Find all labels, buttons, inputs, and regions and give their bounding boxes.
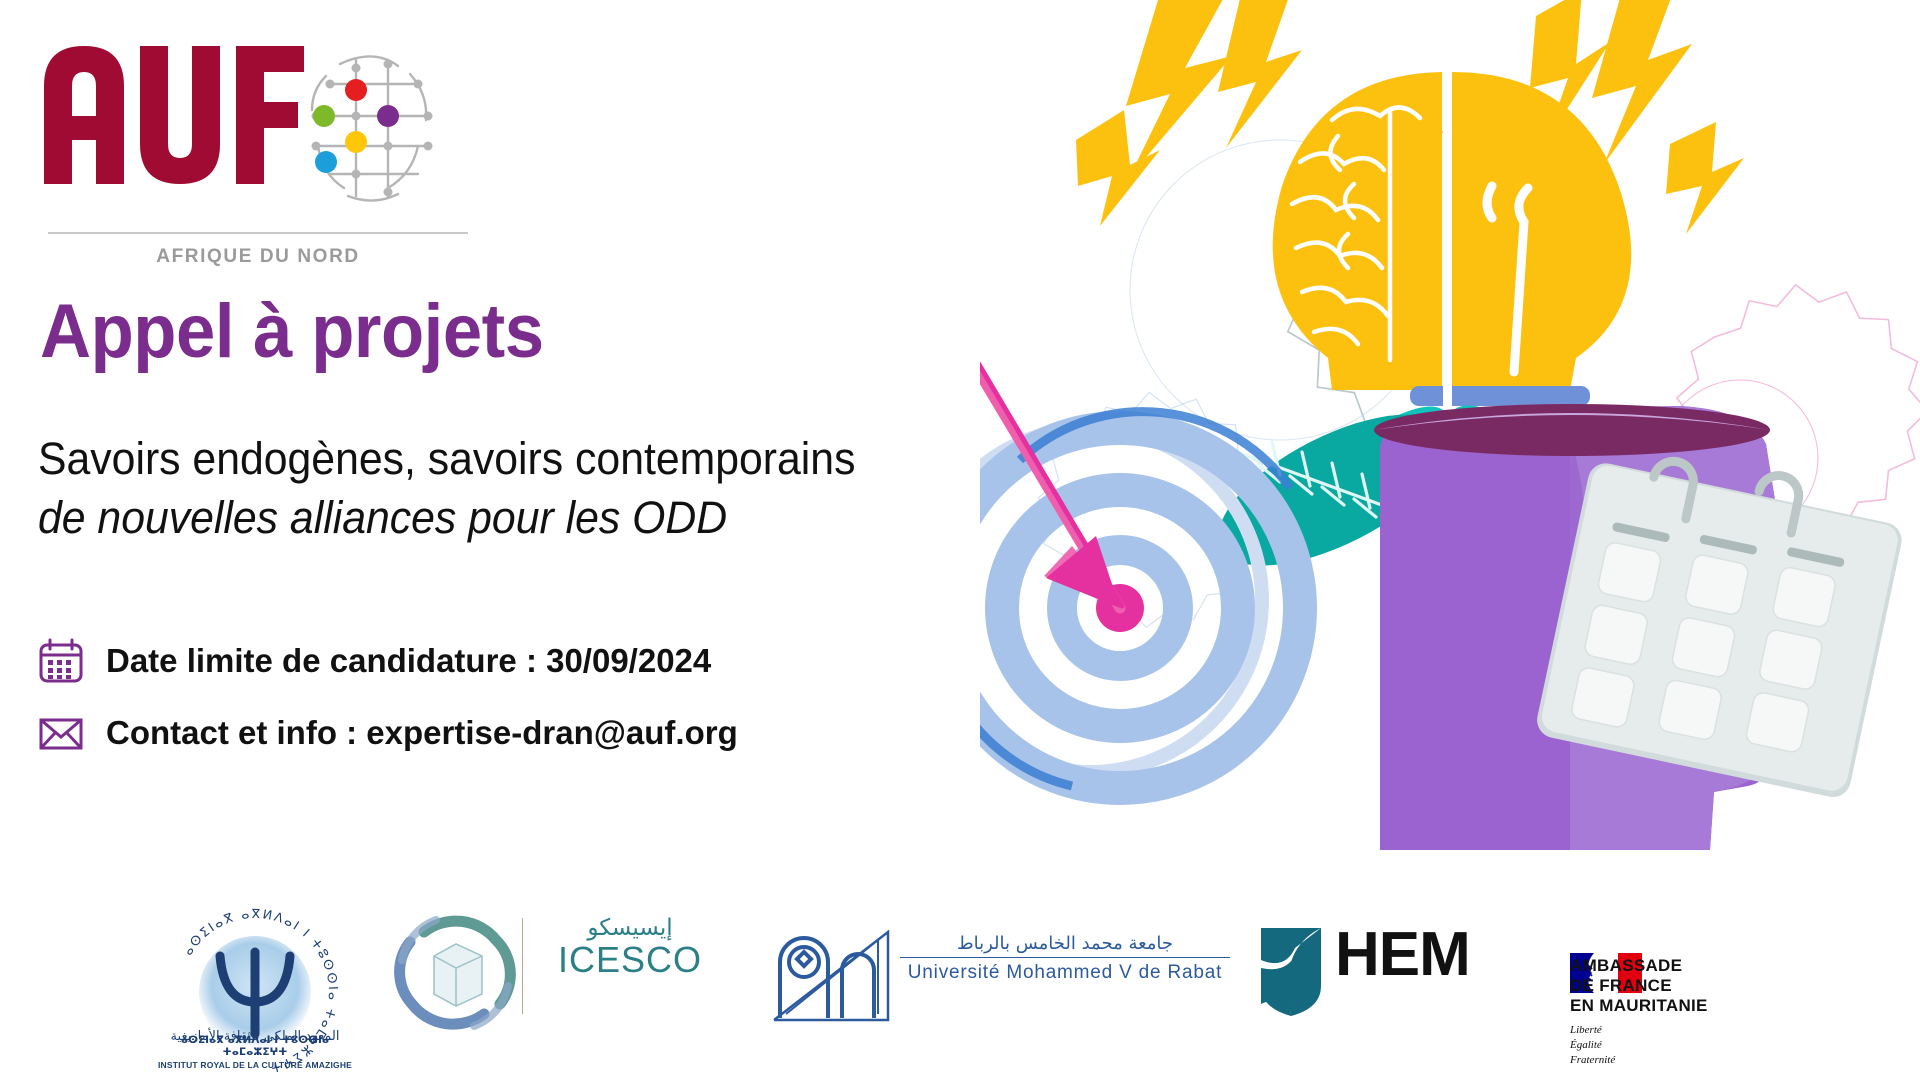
ambassade-line-2: DE FRANCE (1570, 976, 1820, 996)
auf-network-icon (312, 56, 433, 200)
partner-logo-ambassade-de-france: AMBASSADE DE FRANCE EN MAURITANIE Libert… (1570, 904, 1820, 1044)
calendar-icon (38, 638, 84, 684)
subtitle-line-1: Savoirs endogènes, savoirs contemporains (38, 430, 855, 489)
contact-row: Contact et info : expertise-dran@auf.org (38, 710, 738, 756)
auf-divider (48, 232, 468, 234)
node-blue (315, 151, 337, 173)
hem-shield-icon (1261, 928, 1321, 1016)
umv-name-french: Université Mohammed V de Rabat (900, 962, 1230, 984)
deadline-text: Date limite de candidature : 30/09/2024 (106, 642, 711, 680)
contact-text: Contact et info : expertise-dran@auf.org (106, 714, 738, 752)
auf-wordmark (44, 46, 304, 184)
ambassade-line-1: AMBASSADE (1570, 956, 1820, 976)
page-subtitle: Savoirs endogènes, savoirs contemporains… (38, 430, 855, 547)
partner-logo-icesco: إيسيسكو ICESCO (390, 912, 720, 1032)
icesco-divider (522, 918, 523, 1014)
auf-region-label: AFRIQUE DU NORD (48, 246, 468, 268)
partner-logo-hem: HEM (1255, 920, 1545, 1020)
ambassade-line-3: EN MAURITANIE (1570, 996, 1820, 1016)
info-block: Date limite de candidature : 30/09/2024 … (38, 638, 738, 782)
lightbulb-brain (1273, 72, 1631, 394)
node-red (345, 79, 367, 101)
icesco-name-arabic: إيسيسكو (540, 916, 720, 941)
ircam-name-french: INSTITUT ROYAL DE LA CULTURE AMAZIGHE (150, 1060, 360, 1070)
auf-logo (40, 24, 460, 234)
partner-logos: ⴰⵙⵉⵏⴰⴳ ⴰⴳⵍⴷⴰⵏ ⵏ ⵜⵓⵙⵙⵏⴰ ⵜⴰⵎⴰⵣⵉⵖⵜ المعهد ا… (0, 872, 1920, 1080)
node-green (313, 105, 335, 127)
motto-egalite: Égalité (1570, 1038, 1820, 1053)
partner-logo-universite-mohammed-v: جامعة محمد الخامس بالرباط Université Moh… (770, 918, 1230, 1028)
ircam-name-tifinagh: ⴰⵙⵉⵏⴰⴳ ⴰⴳⵍⴷⴰⵏ ⵏ ⵜⵓⵙⵙⵏⴰ ⵜⴰⵎⴰⵣⵉⵖⵜ (150, 1034, 360, 1058)
poster-canvas: AFRIQUE DU NORD Appel à projets Savoirs … (0, 0, 1920, 1080)
umv-text: جامعة محمد الخامس بالرباط Université Moh… (900, 932, 1230, 984)
ambassade-text: AMBASSADE DE FRANCE EN MAURITANIE Libert… (1570, 956, 1820, 1068)
motto-liberte: Liberté (1570, 1023, 1820, 1038)
deadline-row: Date limite de candidature : 30/09/2024 (38, 638, 738, 684)
wall-calendar (1534, 437, 1910, 801)
motto-fraternite: Fraternité (1570, 1053, 1820, 1068)
subtitle-line-2: de nouvelles alliances pour les ODD (38, 489, 855, 548)
node-purple (377, 105, 399, 127)
umv-name-arabic: جامعة محمد الخامس بالرباط (900, 932, 1230, 958)
umv-arch-symbol (774, 932, 888, 1020)
target-rings (980, 412, 1300, 788)
page-title: Appel à projets (40, 294, 544, 370)
icesco-text: إيسيسكو ICESCO (540, 916, 720, 979)
node-yellow (345, 131, 367, 153)
envelope-icon (38, 710, 84, 756)
icesco-kaaba-cube (434, 944, 482, 1006)
illustration-artwork (980, 0, 1920, 890)
hem-wordmark: HEM (1335, 924, 1470, 986)
partner-logo-ircam: ⴰⵙⵉⵏⴰⴳ ⴰⴳⵍⴷⴰⵏ ⵏ ⵜⵓⵙⵙⵏⴰ ⵜⴰⵎⴰⵣⵉⵖⵜ المعهد ا… (150, 882, 360, 1072)
icesco-name-english: ICESCO (540, 941, 720, 979)
